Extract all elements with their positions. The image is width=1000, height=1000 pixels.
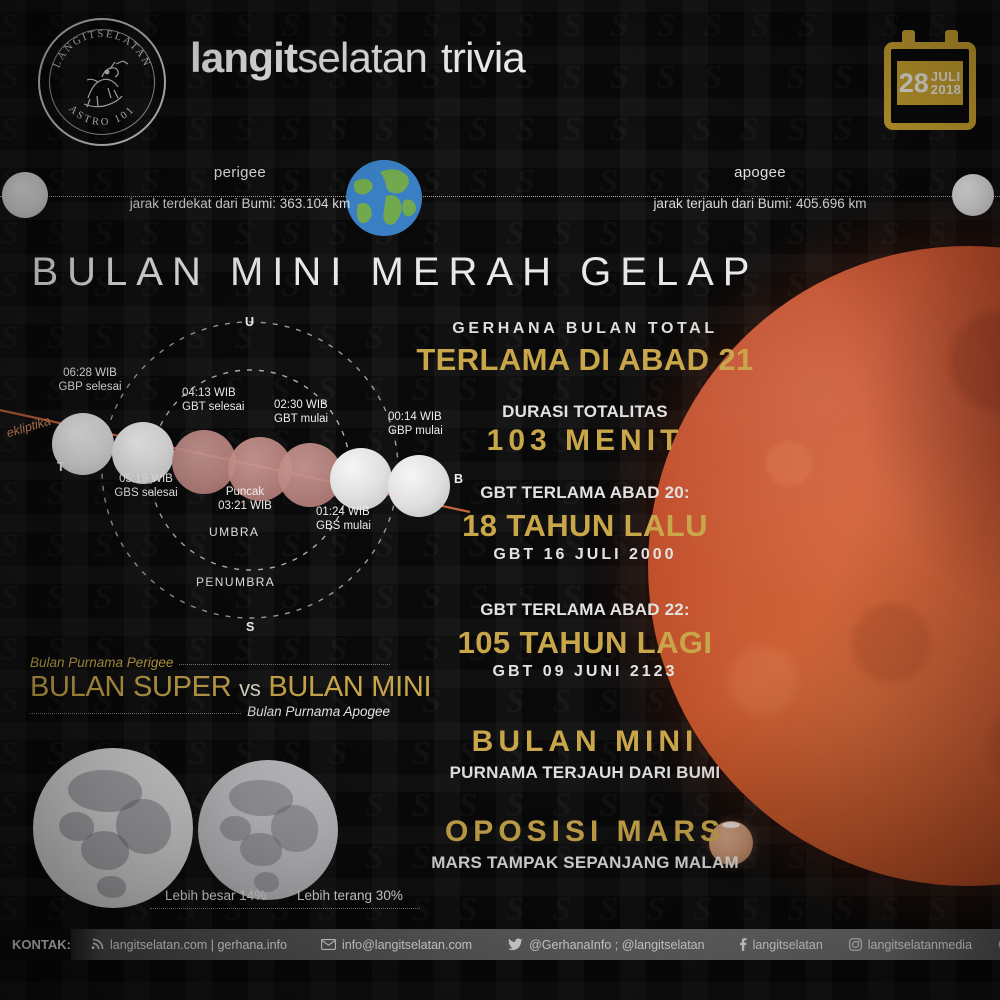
vignette-overlay (0, 0, 1000, 1000)
